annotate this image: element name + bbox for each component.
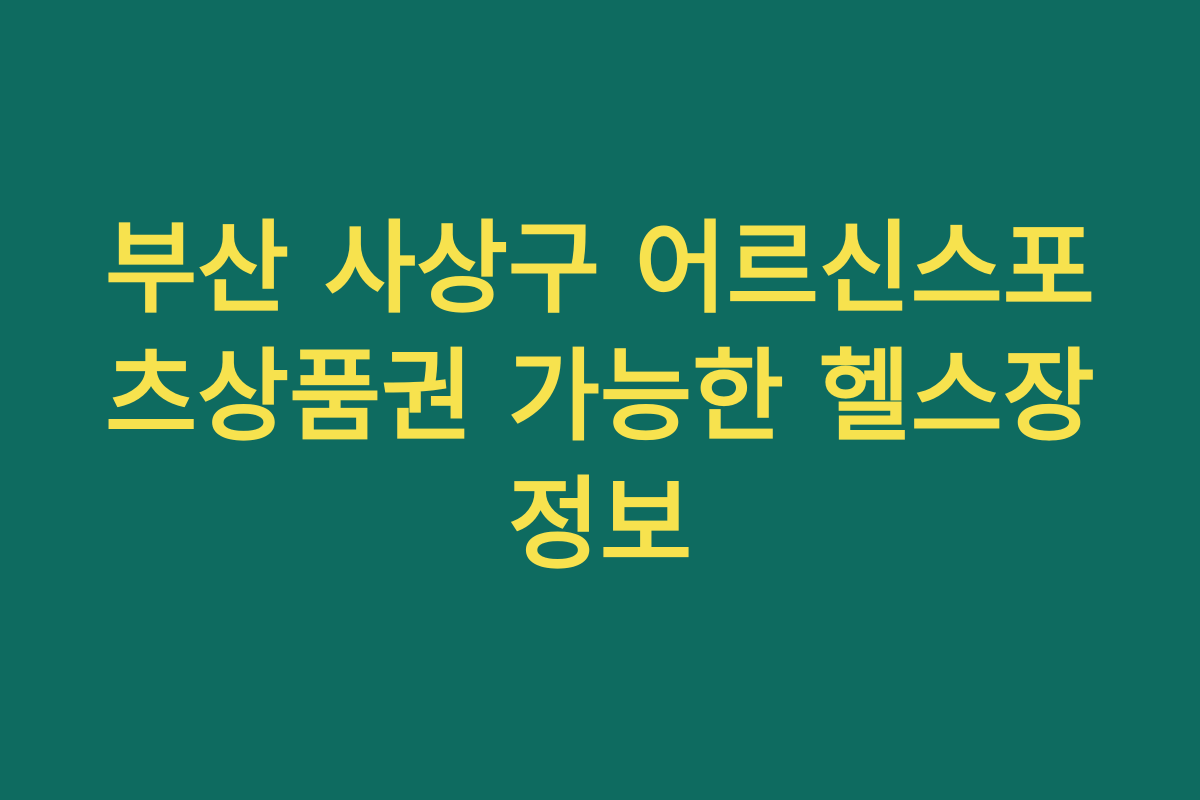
banner-card: 부산 사상구 어르신스포 츠상품권 가능한 헬스장 정보 (0, 0, 1200, 800)
title-block: 부산 사상구 어르신스포 츠상품권 가능한 헬스장 정보 (70, 205, 1130, 589)
title-line-3: 정보 (70, 461, 1130, 589)
title-line-2: 츠상품권 가능한 헬스장 (70, 333, 1130, 461)
title-line-1: 부산 사상구 어르신스포 (70, 205, 1130, 333)
